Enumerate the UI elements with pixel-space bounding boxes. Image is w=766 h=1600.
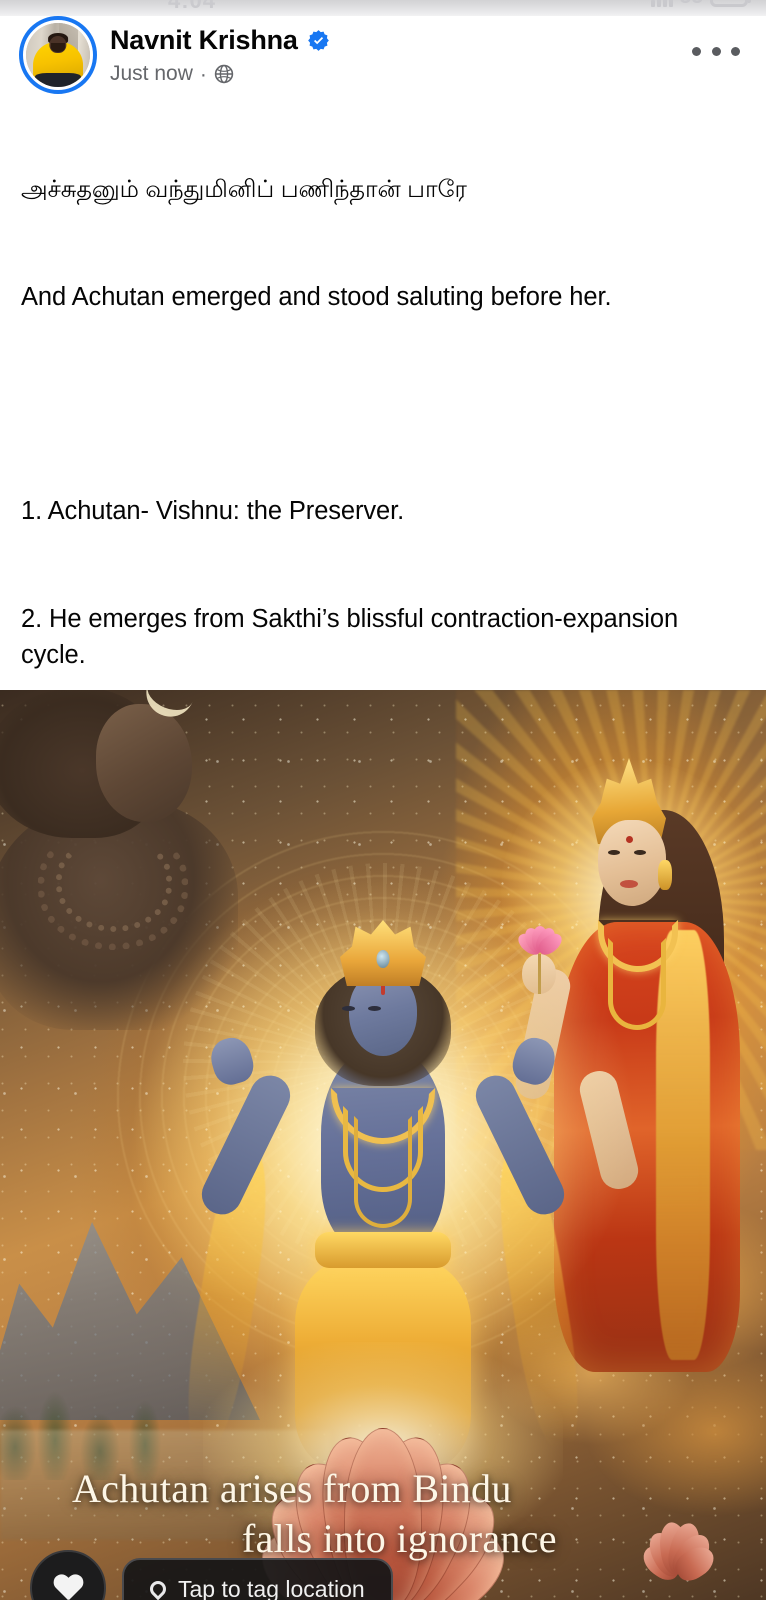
post-point-1: 1. Achutan- Vishnu: the Preserver. [21, 493, 747, 529]
post-tamil-line: அச்சுதனும் வந்துமினிப் பணிந்தான் பாரே [21, 173, 747, 207]
photo-caption: Achutan arises from Bindu falls into ign… [72, 1464, 557, 1564]
verified-badge-icon [307, 29, 330, 52]
tag-location-button[interactable]: Tap to tag location [122, 1558, 393, 1600]
facebook-post-screen: 4:04 55 Navnit Krishna [0, 0, 766, 1600]
battery-percent-label: 55 [680, 0, 703, 7]
post-photo[interactable]: Achutan arises from Bindu falls into ign… [0, 690, 766, 1600]
globe-public-icon[interactable] [214, 64, 234, 84]
meta-separator: · [200, 64, 207, 85]
battery-icon [710, 0, 748, 7]
signal-bars-icon [651, 0, 673, 7]
photo-caption-line-1: Achutan arises from Bindu [72, 1466, 512, 1511]
post-header: Navnit Krishna Just now · [0, 16, 766, 90]
tag-location-label: Tap to tag location [178, 1576, 365, 1600]
location-pin-icon [147, 1578, 170, 1600]
photo-caption-line-2: falls into ignorance [242, 1514, 557, 1564]
status-bar-indicators: 55 [651, 0, 748, 7]
post-translation: And Achutan emerged and stood saluting b… [21, 279, 747, 315]
author-row[interactable]: Navnit Krishna [110, 25, 330, 56]
author-name[interactable]: Navnit Krishna [110, 25, 298, 56]
three-dots-menu-icon[interactable] [692, 38, 740, 64]
avatar[interactable] [19, 16, 97, 94]
status-bar-time: 4:04 [168, 0, 216, 14]
post-point-2: 2. He emerges from Sakthi’s blissful con… [21, 601, 747, 673]
post-meta: Just now · [110, 62, 234, 86]
spacer [21, 387, 747, 421]
post-timestamp: Just now [110, 62, 193, 86]
profile-avatar-image [26, 23, 90, 87]
small-lotus-icon [618, 1504, 738, 1578]
status-bar: 4:04 55 [0, 0, 766, 16]
